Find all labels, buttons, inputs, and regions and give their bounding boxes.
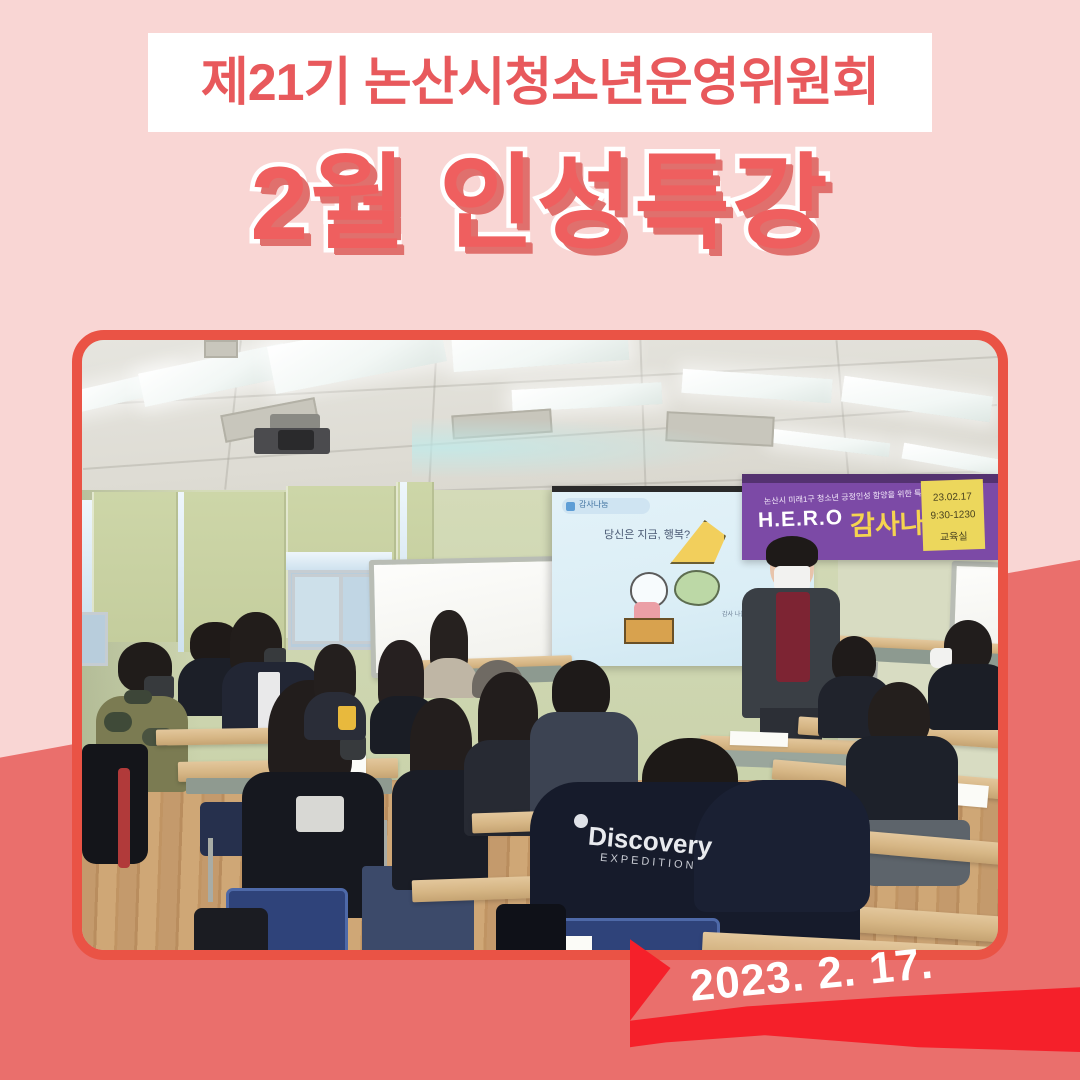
student-body xyxy=(420,658,478,698)
jacket-hood xyxy=(694,780,870,912)
window-pane xyxy=(292,574,342,644)
header-title: 제21기 논산시청소년운영위원회 xyxy=(201,57,879,109)
lecturer-hair xyxy=(766,536,818,568)
camo-patch xyxy=(124,690,152,704)
puffer-jacket xyxy=(496,904,566,950)
main-title-wrap: 2월 인성특강 xyxy=(0,150,1080,259)
puffer-jacket xyxy=(82,744,148,864)
projector-beam xyxy=(412,418,742,478)
classroom-photo: 감사나눔 당신은 지금, 행복? 감사 나눔노트 논산시 미래1구 청소년 긍정… xyxy=(82,340,998,950)
banner-sign-date: 23.02.17 xyxy=(921,491,983,504)
slide-tag-icon xyxy=(566,502,575,511)
hoodie-print xyxy=(296,796,344,832)
slide-shape-bubble xyxy=(674,570,720,606)
photo-frame: 감사나눔 당신은 지금, 행복? 감사 나눔노트 논산시 미래1구 청소년 긍정… xyxy=(72,330,1008,960)
yellow-cup xyxy=(338,706,356,730)
paper-sheet xyxy=(730,731,788,747)
jacket-stripe xyxy=(118,768,130,868)
banner-sign-room: 교육실 xyxy=(922,527,984,544)
header-band: 제21기 논산시청소년운영위원회 xyxy=(148,33,932,132)
slide-tag-label: 감사나눔 xyxy=(579,499,608,510)
banner-hero-title: H.E.R.O xyxy=(758,506,844,533)
page-title: 2월 인성특강 xyxy=(250,150,829,259)
desk-leg xyxy=(208,838,213,902)
banner-sign-time: 9:30-1230 xyxy=(922,509,984,522)
ceiling-vent xyxy=(204,340,238,358)
window-light xyxy=(178,492,184,652)
slide-figure-desk xyxy=(624,618,674,644)
window-pane xyxy=(82,612,108,666)
camo-patch xyxy=(104,712,132,732)
lecturer-sweater xyxy=(776,592,810,682)
slide-heading: 당신은 지금, 행복? xyxy=(604,526,690,542)
student-body xyxy=(304,692,366,740)
backpack xyxy=(194,908,268,950)
poster-canvas: 제21기 논산시청소년운영위원회 2월 인성특강 xyxy=(0,0,1080,1080)
student-body xyxy=(928,664,998,730)
banner-yellow-sign: 23.02.17 9:30-1230 교육실 xyxy=(921,479,985,551)
projector-vent xyxy=(278,430,314,450)
